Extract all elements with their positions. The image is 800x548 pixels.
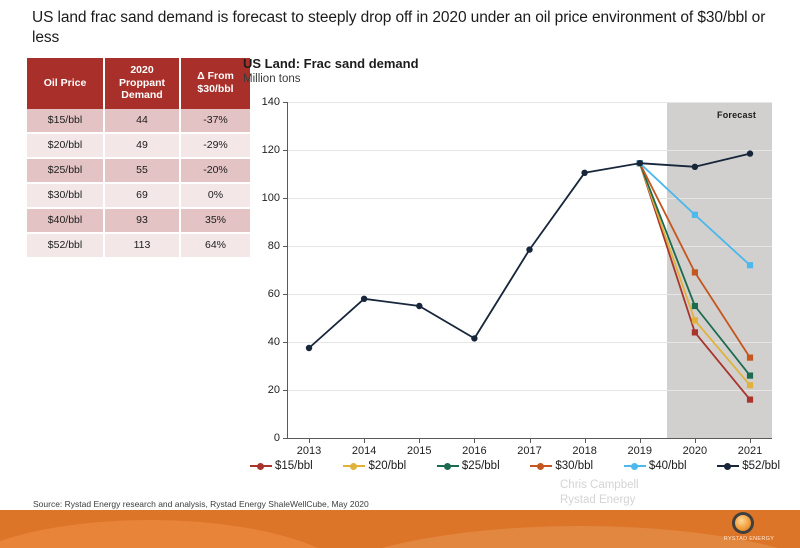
cell-proppant-demand: 44: [104, 109, 180, 133]
footer-bar: RYSTAD ENERGY: [0, 510, 800, 548]
x-tick-label: 2013: [297, 445, 321, 457]
y-tick-label: 60: [268, 288, 280, 300]
x-tick-mark: [364, 439, 365, 443]
data-point: [692, 212, 698, 218]
source-note: Source: Rystad Energy research and analy…: [33, 499, 369, 509]
table: Oil Price 2020 Proppant Demand Δ From $3…: [27, 58, 250, 259]
data-point: [747, 373, 753, 379]
x-tick-mark: [309, 439, 310, 443]
slide-canvas: US land frac sand demand is forecast to …: [0, 0, 800, 548]
chart-title: US Land: Frac sand demand: [243, 56, 419, 71]
legend-dot: [257, 463, 264, 470]
y-tick-label: 0: [274, 432, 280, 444]
legend-swatch-icon: [530, 461, 552, 471]
data-point: [471, 335, 477, 341]
data-point: [637, 160, 643, 166]
x-tick-mark: [474, 439, 475, 443]
data-point: [692, 269, 698, 275]
x-tick-label: 2014: [352, 445, 376, 457]
table-header-oil-price: Oil Price: [27, 58, 104, 109]
legend-item-30bbl[interactable]: $30/bbl: [530, 460, 593, 472]
frac-sand-demand-chart: US Land: Frac sand demand Million tons F…: [240, 56, 785, 496]
legend-dot: [631, 463, 638, 470]
x-tick-mark: [640, 439, 641, 443]
x-tick-label: 2020: [683, 445, 707, 457]
x-tick-label: 2016: [462, 445, 486, 457]
cell-oil-price: $15/bbl: [27, 109, 104, 133]
y-tick-label: 20: [268, 384, 280, 396]
y-tick-label: 80: [268, 240, 280, 252]
data-point: [692, 317, 698, 323]
footer-arc-left: [0, 520, 360, 548]
legend-item-15bbl[interactable]: $15/bbl: [250, 460, 313, 472]
table-body: $15/bbl44-37%$20/bbl49-29%$25/bbl55-20%$…: [27, 109, 250, 258]
series-line-15bbl: [640, 163, 750, 399]
legend-swatch-icon: [250, 461, 272, 471]
table-row: $15/bbl44-37%: [27, 109, 250, 133]
x-tick-mark: [695, 439, 696, 443]
cell-proppant-demand: 49: [104, 133, 180, 158]
cell-oil-price: $30/bbl: [27, 183, 104, 208]
cell-oil-price: $40/bbl: [27, 208, 104, 233]
cell-oil-price: $25/bbl: [27, 158, 104, 183]
legend-item-52bbl[interactable]: $52/bbl: [717, 460, 780, 472]
legend-swatch-icon: [343, 461, 365, 471]
legend-item-25bbl[interactable]: $25/bbl: [437, 460, 500, 472]
data-point: [692, 164, 698, 170]
cell-proppant-demand: 55: [104, 158, 180, 183]
legend-dot: [537, 463, 544, 470]
series-lines: [287, 102, 772, 438]
cell-proppant-demand: 69: [104, 183, 180, 208]
series-line-30bbl: [640, 163, 750, 357]
data-point: [747, 355, 753, 361]
table-row: $52/bbl11364%: [27, 233, 250, 258]
logo-text: RYSTAD ENERGY: [712, 536, 786, 542]
y-tick-label: 40: [268, 336, 280, 348]
x-tick-mark: [750, 439, 751, 443]
data-point: [747, 382, 753, 388]
data-point: [416, 303, 422, 309]
legend-dot: [350, 463, 357, 470]
chart-legend: $15/bbl$20/bbl$25/bbl$30/bbl$40/bbl$52/b…: [250, 460, 780, 472]
legend-item-20bbl[interactable]: $20/bbl: [343, 460, 406, 472]
cell-proppant-demand: 113: [104, 233, 180, 258]
x-tick-label: 2017: [517, 445, 541, 457]
legend-label: $20/bbl: [368, 460, 406, 472]
legend-label: $25/bbl: [462, 460, 500, 472]
data-point: [692, 303, 698, 309]
data-point: [306, 345, 312, 351]
x-tick-mark: [585, 439, 586, 443]
data-point: [361, 296, 367, 302]
data-point: [692, 329, 698, 335]
y-tick-label: 120: [262, 144, 280, 156]
table-header-row: Oil Price 2020 Proppant Demand Δ From $3…: [27, 58, 250, 109]
x-tick-label: 2021: [738, 445, 762, 457]
table-row: $20/bbl49-29%: [27, 133, 250, 158]
proppant-demand-table: Oil Price 2020 Proppant Demand Δ From $3…: [27, 58, 234, 259]
table-row: $25/bbl55-20%: [27, 158, 250, 183]
cell-oil-price: $20/bbl: [27, 133, 104, 158]
legend-label: $52/bbl: [742, 460, 780, 472]
legend-item-40bbl[interactable]: $40/bbl: [624, 460, 687, 472]
legend-dot: [724, 463, 731, 470]
plot-area: Forecast 020406080100120140 201320142015…: [287, 102, 772, 438]
x-tick-label: 2018: [572, 445, 596, 457]
legend-swatch-icon: [437, 461, 459, 471]
table-header-proppant-demand: 2020 Proppant Demand: [104, 58, 180, 109]
data-point: [581, 170, 587, 176]
data-point: [747, 262, 753, 268]
globe-inner-icon: [735, 515, 751, 531]
x-tick-label: 2019: [628, 445, 652, 457]
legend-swatch-icon: [717, 461, 739, 471]
cell-proppant-demand: 93: [104, 208, 180, 233]
cell-oil-price: $52/bbl: [27, 233, 104, 258]
data-point: [747, 150, 753, 156]
legend-dot: [444, 463, 451, 470]
y-tick-label: 100: [262, 192, 280, 204]
legend-label: $40/bbl: [649, 460, 687, 472]
chart-subtitle: Million tons: [243, 73, 301, 85]
legend-swatch-icon: [624, 461, 646, 471]
page-title: US land frac sand demand is forecast to …: [32, 8, 772, 48]
data-point: [526, 246, 532, 252]
rystad-energy-logo: RYSTAD ENERGY: [712, 512, 786, 545]
x-tick-mark: [419, 439, 420, 443]
x-tick-label: 2015: [407, 445, 431, 457]
y-tick-label: 140: [262, 96, 280, 108]
y-tick-mark: [283, 438, 287, 439]
table-row: $30/bbl690%: [27, 183, 250, 208]
table-row: $40/bbl9335%: [27, 208, 250, 233]
legend-label: $30/bbl: [555, 460, 593, 472]
data-point: [747, 397, 753, 403]
legend-label: $15/bbl: [275, 460, 313, 472]
x-tick-mark: [530, 439, 531, 443]
